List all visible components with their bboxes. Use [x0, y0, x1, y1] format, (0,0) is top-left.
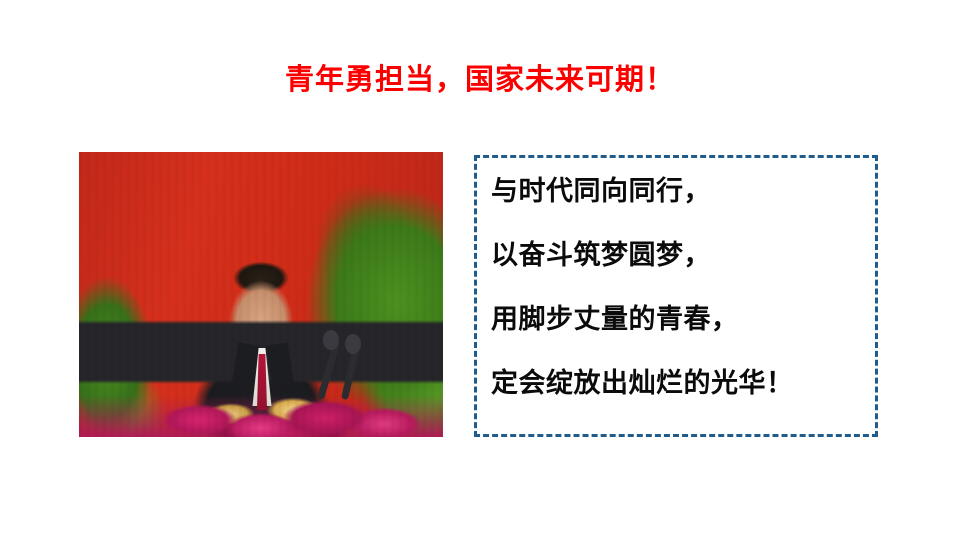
- quote-line: 用脚步丈量的青春，: [491, 306, 865, 370]
- quote-line: 以奋斗筑梦圆梦，: [491, 242, 865, 306]
- microphone-head-left-shape: [323, 330, 339, 350]
- microphone-head-right-shape: [345, 334, 361, 354]
- speaker-photo: [79, 152, 443, 437]
- quote-text-box: 与时代同向同行， 以奋斗筑梦圆梦， 用脚步丈量的青春， 定会绽放出灿烂的光华！: [474, 155, 878, 437]
- slide-canvas: 青年勇担当，国家未来可期！ 与时代同向同行， 以奋斗筑梦圆梦， 用脚步丈量的青春…: [0, 0, 960, 540]
- quote-line: 与时代同向同行，: [491, 178, 865, 242]
- page-title: 青年勇担当，国家未来可期！: [0, 62, 960, 100]
- quote-line: 定会绽放出灿烂的光华！: [491, 370, 865, 434]
- quote-line-group: 与时代同向同行， 以奋斗筑梦圆梦， 用脚步丈量的青春， 定会绽放出灿烂的光华！: [491, 178, 865, 434]
